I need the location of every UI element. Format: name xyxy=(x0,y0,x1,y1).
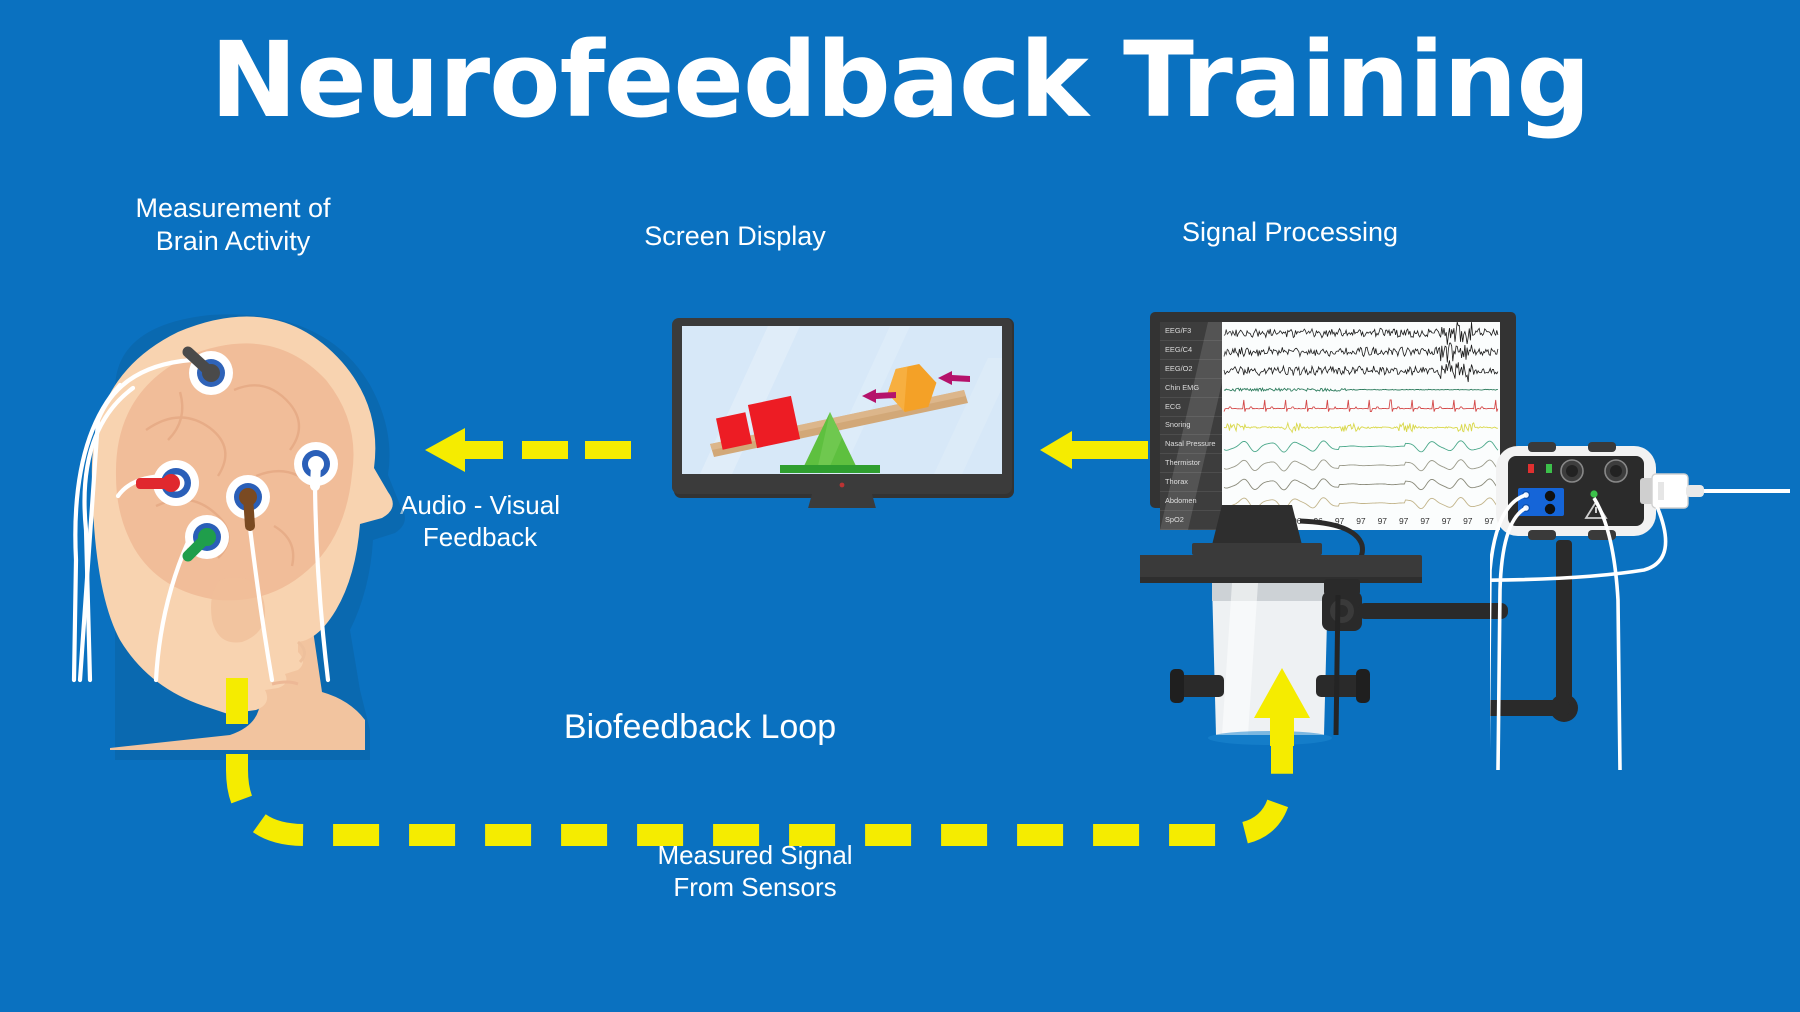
label-measured-signal-line2: From Sensors xyxy=(560,872,950,904)
cart-monitor-neck xyxy=(1212,505,1302,545)
feedback-display-monitor[interactable] xyxy=(672,318,1032,508)
eeg-trace-eeg-c4 xyxy=(1224,343,1498,363)
audio-visual-feedback-arrow xyxy=(425,425,645,475)
label-biofeedback-loop: Biofeedback Loop xyxy=(480,707,920,748)
eeg-trace-ecg xyxy=(1224,400,1498,412)
signal-to-screen-arrow xyxy=(1040,428,1150,472)
eeg-trace-chin-emg xyxy=(1224,388,1498,391)
head-with-eeg-electrodes xyxy=(60,280,420,780)
monitor-stand-neck xyxy=(802,494,882,508)
amplifier-wires xyxy=(1490,495,1666,770)
label-measurement-line1: Measurement of xyxy=(88,192,378,225)
polysomnography-monitor[interactable]: EEG/F3 EEG/C4 EEG/O2 Chin EMG ECG Snorin… xyxy=(1160,322,1500,530)
eeg-channel-label: EEG/C4 xyxy=(1160,341,1222,360)
amplifier-connector xyxy=(1640,474,1790,508)
eeg-channel-label: Thermistor xyxy=(1160,454,1222,473)
arrow-solid-left xyxy=(1040,431,1148,469)
label-measured-signal-line1: Measured Signal xyxy=(560,840,950,872)
eeg-trace-eeg-o2 xyxy=(1224,360,1498,382)
power-led xyxy=(840,483,845,488)
cart-floor-shadow xyxy=(1208,731,1332,745)
pole-crossbar xyxy=(1490,700,1570,716)
eeg-channel-label: Thorax xyxy=(1160,473,1222,492)
cart-pole xyxy=(1336,595,1338,735)
eeg-channel-label: Chin EMG xyxy=(1160,379,1222,398)
arrowhead-left xyxy=(425,428,503,472)
diagram-canvas: Neurofeedback Training Measurement of Br… xyxy=(0,0,1800,1012)
eeg-trace-eeg-f3 xyxy=(1224,322,1498,345)
label-measurement-line2: Brain Activity xyxy=(88,225,378,258)
eeg-waveform-area: 97969696969797979797979797 xyxy=(1222,322,1500,530)
eeg-amplifier-assembly xyxy=(1490,440,1800,770)
power-led-red xyxy=(1528,464,1534,473)
eeg-channel-label: Nasal Pressure xyxy=(1160,435,1222,454)
page-title: Neurofeedback Training xyxy=(0,22,1800,138)
cart-desk-edge xyxy=(1140,577,1422,583)
status-led-green xyxy=(1546,464,1552,473)
eeg-channel-label: ECG xyxy=(1160,398,1222,417)
electrode-right[interactable] xyxy=(294,442,338,486)
eeg-trace-nasal-pressure xyxy=(1224,441,1498,452)
label-screen-display: Screen Display xyxy=(610,220,860,253)
dash-1 xyxy=(522,441,568,459)
cart-arm-joint xyxy=(1322,579,1508,631)
label-signal-processing: Signal Processing xyxy=(1140,216,1440,249)
amplifier-pole xyxy=(1556,540,1572,700)
eeg-channel-label: EEG/F3 xyxy=(1160,322,1222,341)
eeg-channel-label: Snoring xyxy=(1160,417,1222,436)
cart-body-top-band xyxy=(1212,583,1328,601)
label-measured-signal-from-sensors: Measured Signal From Sensors xyxy=(560,840,950,903)
electrode-lower-left[interactable] xyxy=(185,515,229,559)
eeg-trace-snoring xyxy=(1224,423,1498,432)
cart-monitor-foot xyxy=(1192,543,1322,555)
warning-bang xyxy=(1595,507,1597,513)
eeg-traces-svg xyxy=(1222,322,1500,530)
red-block-2 xyxy=(748,396,800,448)
amplifier-green-led xyxy=(1590,490,1597,497)
medical-cart-workstation xyxy=(1140,505,1540,775)
eeg-trace-thermistor xyxy=(1224,460,1498,471)
eeg-trace-thorax xyxy=(1224,479,1498,490)
eeg-channel-label: EEG/O2 xyxy=(1160,360,1222,379)
dash-2 xyxy=(585,441,631,459)
fulcrum-base xyxy=(780,465,880,473)
eeg-channel-label-column: EEG/F3 EEG/C4 EEG/O2 Chin EMG ECG Snorin… xyxy=(1160,322,1222,530)
label-measurement-of-brain-activity: Measurement of Brain Activity xyxy=(88,192,378,258)
